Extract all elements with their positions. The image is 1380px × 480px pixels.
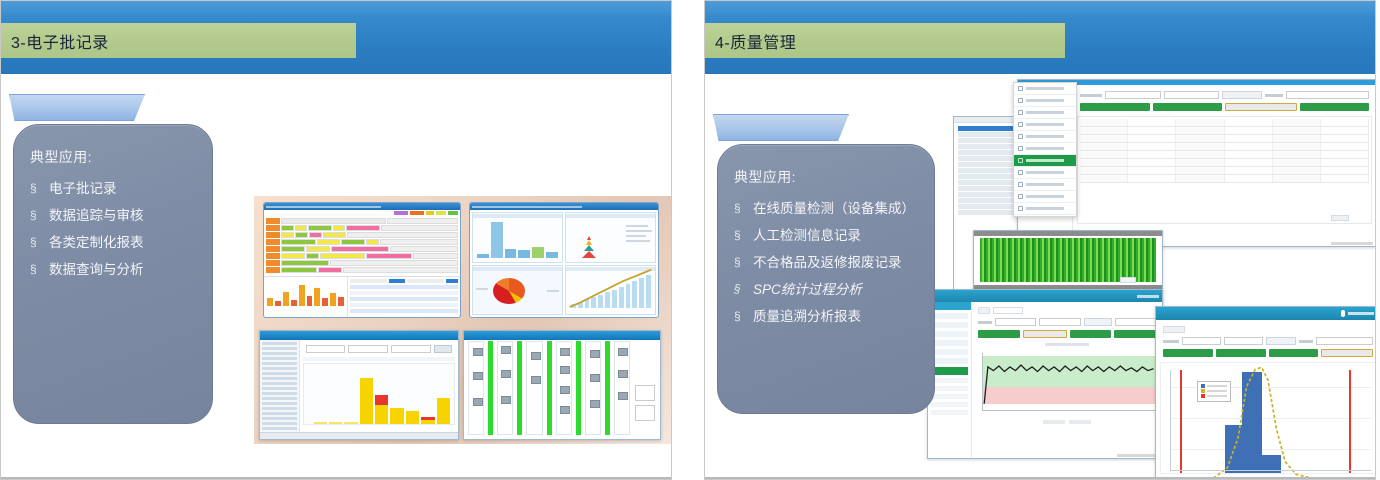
lane-column[interactable] bbox=[556, 341, 572, 435]
tab-button[interactable] bbox=[1163, 326, 1185, 333]
menu-item[interactable] bbox=[1014, 119, 1076, 131]
section-marker-icon: § bbox=[30, 208, 39, 223]
section-marker-icon: § bbox=[734, 255, 743, 270]
filter-input[interactable] bbox=[348, 345, 388, 353]
lane-column[interactable] bbox=[614, 341, 630, 435]
table-row bbox=[1080, 159, 1369, 167]
mini-list-panel bbox=[348, 277, 460, 318]
lane-divider-green bbox=[605, 341, 610, 435]
table-row bbox=[1080, 143, 1369, 151]
equipment-layout-screen[interactable] bbox=[463, 330, 661, 440]
slide1-callout-box: 典型应用: § 电子批记录 § 数据追踪与审核 § 各类定制化报表 bbox=[13, 124, 213, 424]
window-titlebar bbox=[974, 231, 1162, 236]
menu-item[interactable] bbox=[1014, 131, 1076, 143]
slide2-header-top-strip bbox=[705, 1, 1375, 14]
spc-statistics-table bbox=[1077, 116, 1372, 224]
dashboard-trend-chart bbox=[565, 265, 656, 316]
tab-button[interactable] bbox=[1153, 103, 1223, 111]
menu-icon bbox=[1018, 206, 1023, 211]
slide-electronic-batch-record: 3-电子批记录 典型应用: § 电子批记录 § 数据追踪与审核 § bbox=[0, 0, 672, 480]
end-date-input[interactable] bbox=[1164, 91, 1220, 99]
tab-button-active[interactable] bbox=[993, 307, 1023, 314]
end-date-input[interactable] bbox=[1224, 337, 1263, 345]
menu-item-selected[interactable] bbox=[1014, 155, 1076, 167]
bullet-text: 数据追踪与审核 bbox=[49, 208, 144, 225]
search-button[interactable] bbox=[434, 345, 452, 353]
table-row bbox=[1080, 175, 1369, 183]
section-marker-icon: § bbox=[30, 181, 39, 196]
nav-popup-menu[interactable] bbox=[1013, 82, 1077, 217]
user-label[interactable] bbox=[1348, 312, 1374, 315]
menu-icon bbox=[1018, 134, 1023, 139]
list-item: § 不合格品及返修报废记录 bbox=[734, 255, 918, 272]
control-chart-legend bbox=[975, 420, 1159, 424]
slide1-title-band: 3-电子批记录 bbox=[1, 23, 356, 58]
bullet-text: 电子批记录 bbox=[49, 181, 117, 198]
table-row bbox=[266, 267, 458, 273]
window-title-placeholder bbox=[266, 206, 381, 208]
slide2-header-bar: 4-质量管理 bbox=[705, 1, 1375, 74]
export-button[interactable] bbox=[1331, 215, 1349, 221]
dashboard-bar-chart bbox=[472, 212, 563, 263]
section-marker-icon: § bbox=[734, 309, 743, 324]
section-marker-icon: § bbox=[30, 235, 39, 250]
table-row bbox=[266, 239, 458, 245]
lane-divider-green bbox=[488, 341, 493, 435]
menu-icon bbox=[1018, 86, 1023, 91]
detail-button[interactable] bbox=[1120, 277, 1136, 283]
tab-button-active[interactable] bbox=[1225, 103, 1297, 111]
table-row bbox=[266, 260, 458, 266]
slide1-callout-lead: 典型应用: bbox=[30, 147, 196, 167]
user-label[interactable] bbox=[1137, 295, 1159, 298]
table-row bbox=[266, 246, 458, 252]
end-date-input[interactable] bbox=[1039, 318, 1080, 326]
bullet-text: 质量追溯分析报表 bbox=[753, 309, 861, 326]
model-select[interactable] bbox=[1316, 337, 1373, 345]
menu-icon bbox=[1018, 110, 1023, 115]
window-titlebar bbox=[260, 331, 458, 340]
menu-item[interactable] bbox=[1014, 95, 1076, 107]
report-query-screen[interactable] bbox=[259, 330, 459, 440]
section-marker-icon: § bbox=[734, 201, 743, 216]
spc-tab-bar[interactable] bbox=[1077, 101, 1372, 113]
slide1-trapezoid-tab bbox=[9, 94, 145, 121]
filter-input[interactable] bbox=[391, 345, 431, 353]
slide1-bullet-list: § 电子批记录 § 数据追踪与审核 § 各类定制化报表 § 数据查询与分析 bbox=[30, 181, 196, 279]
histogram-tab-row[interactable] bbox=[1160, 324, 1376, 335]
tab-button[interactable] bbox=[1114, 330, 1156, 338]
tab-button[interactable] bbox=[1300, 103, 1370, 111]
menu-item[interactable] bbox=[1014, 167, 1076, 179]
inspection-data-plot bbox=[980, 238, 1156, 282]
model-select[interactable] bbox=[1286, 91, 1369, 99]
toolbar-chip[interactable] bbox=[448, 211, 458, 215]
menu-item[interactable] bbox=[1014, 143, 1076, 155]
list-item: § 质量追溯分析报表 bbox=[734, 309, 918, 326]
menu-icon bbox=[1018, 158, 1023, 163]
tab-button[interactable] bbox=[1216, 349, 1266, 357]
date-label bbox=[1080, 94, 1102, 97]
window-titlebar bbox=[470, 203, 658, 210]
control-line bbox=[975, 343, 1159, 411]
bullet-text: 各类定制化报表 bbox=[49, 235, 144, 252]
layout-lanes bbox=[468, 341, 656, 435]
histogram-plot bbox=[1160, 362, 1376, 474]
menu-item[interactable] bbox=[1014, 107, 1076, 119]
bullet-text: 人工检测信息记录 bbox=[753, 228, 861, 245]
menu-icon bbox=[1018, 146, 1023, 151]
window-titlebar bbox=[264, 203, 460, 210]
slide2-title-text: 4-质量管理 bbox=[705, 29, 796, 53]
bullet-text: 在线质量检测（设备集成） bbox=[753, 201, 915, 218]
slide2-bullet-list: § 在线质量检测（设备集成） § 人工检测信息记录 § 不合格品及返修报废记录 … bbox=[734, 201, 918, 325]
report-bar-chart bbox=[303, 363, 455, 425]
menu-item[interactable] bbox=[1014, 83, 1076, 95]
histogram-legend bbox=[1197, 381, 1231, 402]
slide1-header-top-strip bbox=[1, 1, 671, 14]
menu-icon bbox=[1018, 170, 1023, 175]
lane-column[interactable] bbox=[585, 341, 601, 435]
spc-histogram-screen[interactable] bbox=[1155, 306, 1376, 480]
slide1-collage-reflection bbox=[254, 444, 672, 480]
slide1-header-bar: 3-电子批记录 bbox=[1, 1, 671, 74]
toolbar-chip[interactable] bbox=[410, 211, 424, 215]
list-item: § 数据查询与分析 bbox=[30, 262, 196, 279]
spc-control-chart-screen[interactable] bbox=[927, 289, 1163, 459]
lane-divider-green bbox=[547, 341, 552, 435]
copyright-note bbox=[1117, 454, 1159, 457]
query-button[interactable] bbox=[1084, 318, 1112, 326]
tab-button[interactable] bbox=[1070, 330, 1112, 338]
dashboard-pie-chart bbox=[472, 265, 563, 316]
slide-quality-management: 4-质量管理 bbox=[704, 0, 1376, 480]
lane-divider-green bbox=[576, 341, 581, 435]
table-row bbox=[1080, 119, 1369, 127]
model-label bbox=[1299, 340, 1313, 343]
tab-button-active[interactable] bbox=[1023, 330, 1067, 338]
lane-column[interactable] bbox=[526, 341, 542, 435]
slide2-trapezoid-tab bbox=[713, 114, 849, 141]
side-card-column bbox=[634, 341, 656, 435]
window-titlebar bbox=[1156, 307, 1376, 320]
control-chart-tab-bar[interactable] bbox=[975, 328, 1159, 340]
normal-curve bbox=[1161, 363, 1375, 480]
control-chart-tab-row[interactable] bbox=[975, 305, 1159, 316]
trend-line bbox=[566, 266, 655, 311]
section-marker-icon: § bbox=[734, 228, 743, 243]
start-date-input[interactable] bbox=[1182, 337, 1221, 345]
left-nav-menu[interactable] bbox=[260, 340, 300, 439]
menu-icon bbox=[1018, 98, 1023, 103]
legend-entry bbox=[1201, 394, 1227, 398]
tab-button[interactable] bbox=[978, 307, 990, 314]
window-statusbar bbox=[260, 432, 458, 439]
list-item: § 各类定制化报表 bbox=[30, 235, 196, 252]
bullet-text: 不合格品及返修报废记录 bbox=[753, 255, 902, 272]
tab-button-active[interactable] bbox=[1321, 349, 1373, 357]
menu-item[interactable] bbox=[1014, 179, 1076, 191]
model-label bbox=[1265, 94, 1283, 97]
query-button[interactable] bbox=[1222, 91, 1262, 99]
list-item: § 数据追踪与审核 bbox=[30, 208, 196, 225]
model-select[interactable] bbox=[1115, 318, 1156, 326]
menu-item[interactable] bbox=[1014, 203, 1076, 215]
tab-button[interactable] bbox=[1080, 103, 1150, 111]
menu-item[interactable] bbox=[1014, 191, 1076, 203]
tab-button[interactable] bbox=[1269, 349, 1319, 357]
table-row bbox=[266, 218, 458, 224]
slide1-title-text: 3-电子批记录 bbox=[1, 29, 109, 53]
table-row bbox=[266, 232, 458, 238]
table-row bbox=[1080, 167, 1369, 175]
histogram-tab-bar[interactable] bbox=[1160, 347, 1376, 359]
slide2-title-band: 4-质量管理 bbox=[705, 23, 1065, 58]
slide-gap bbox=[672, 0, 704, 480]
date-label bbox=[978, 321, 992, 324]
section-marker-icon: § bbox=[734, 282, 743, 297]
query-filter-bar[interactable] bbox=[303, 343, 455, 355]
list-item: § SPC统计过程分析 bbox=[734, 282, 918, 299]
window-title-placeholder bbox=[472, 206, 582, 208]
list-item: § 人工检测信息记录 bbox=[734, 228, 918, 245]
control-chart-filter-bar[interactable] bbox=[975, 316, 1159, 328]
section-marker-icon: § bbox=[30, 262, 39, 277]
window-titlebar bbox=[928, 290, 1162, 302]
menu-icon bbox=[1018, 194, 1023, 199]
lane-divider-green bbox=[517, 341, 522, 435]
slide2-callout-lead: 典型应用: bbox=[734, 167, 918, 187]
legend-entry bbox=[1201, 389, 1227, 393]
gantt-grid bbox=[264, 216, 460, 276]
toolbar-chip[interactable] bbox=[426, 211, 434, 215]
start-date-input[interactable] bbox=[1105, 91, 1161, 99]
table-row bbox=[1080, 127, 1369, 135]
dashboard-pyramid-chart bbox=[565, 212, 656, 263]
kpi-dashboard-screen[interactable] bbox=[469, 202, 659, 318]
filter-input[interactable] bbox=[306, 345, 346, 353]
toolbar-chip[interactable] bbox=[436, 211, 446, 215]
toolbar-chip[interactable] bbox=[394, 211, 408, 215]
slide2-callout-box: 典型应用: § 在线质量检测（设备集成） § 人工检测信息记录 § 不合格品及返… bbox=[717, 144, 935, 414]
list-item: § 在线质量检测（设备集成） bbox=[734, 201, 918, 218]
query-button[interactable] bbox=[1266, 337, 1296, 345]
table-row bbox=[1080, 151, 1369, 159]
control-chart-plot bbox=[975, 343, 1159, 417]
histogram-filter-bar[interactable] bbox=[1160, 335, 1376, 347]
tab-button[interactable] bbox=[1163, 349, 1213, 357]
menu-icon bbox=[1018, 122, 1023, 127]
slide1-body: 典型应用: § 电子批记录 § 数据追踪与审核 § 各类定制化报表 bbox=[1, 74, 671, 480]
window-titlebar bbox=[464, 331, 660, 340]
bullet-text: 数据查询与分析 bbox=[49, 262, 144, 279]
table-row bbox=[266, 253, 458, 259]
lane-column[interactable] bbox=[497, 341, 513, 435]
start-date-input[interactable] bbox=[995, 318, 1036, 326]
bullet-text: SPC统计过程分析 bbox=[753, 282, 862, 299]
table-row bbox=[1080, 135, 1369, 143]
slide-deck: 3-电子批记录 典型应用: § 电子批记录 § 数据追踪与审核 § bbox=[0, 0, 1380, 480]
legend-entry bbox=[1201, 384, 1227, 388]
mini-bar-chart bbox=[264, 277, 348, 318]
user-icon bbox=[1341, 310, 1345, 317]
table-row bbox=[266, 225, 458, 231]
date-label bbox=[1163, 340, 1179, 343]
batch-record-gantt-screen[interactable] bbox=[263, 202, 461, 318]
copyright-note bbox=[1331, 242, 1373, 245]
list-item: § 电子批记录 bbox=[30, 181, 196, 198]
lane-column[interactable] bbox=[468, 341, 484, 435]
spc-filter-bar[interactable] bbox=[1077, 89, 1372, 101]
menu-icon bbox=[1018, 182, 1023, 187]
slide2-body: 典型应用: § 在线质量检测（设备集成） § 人工检测信息记录 § 不合格品及返… bbox=[705, 74, 1375, 480]
tab-button[interactable] bbox=[978, 330, 1020, 338]
